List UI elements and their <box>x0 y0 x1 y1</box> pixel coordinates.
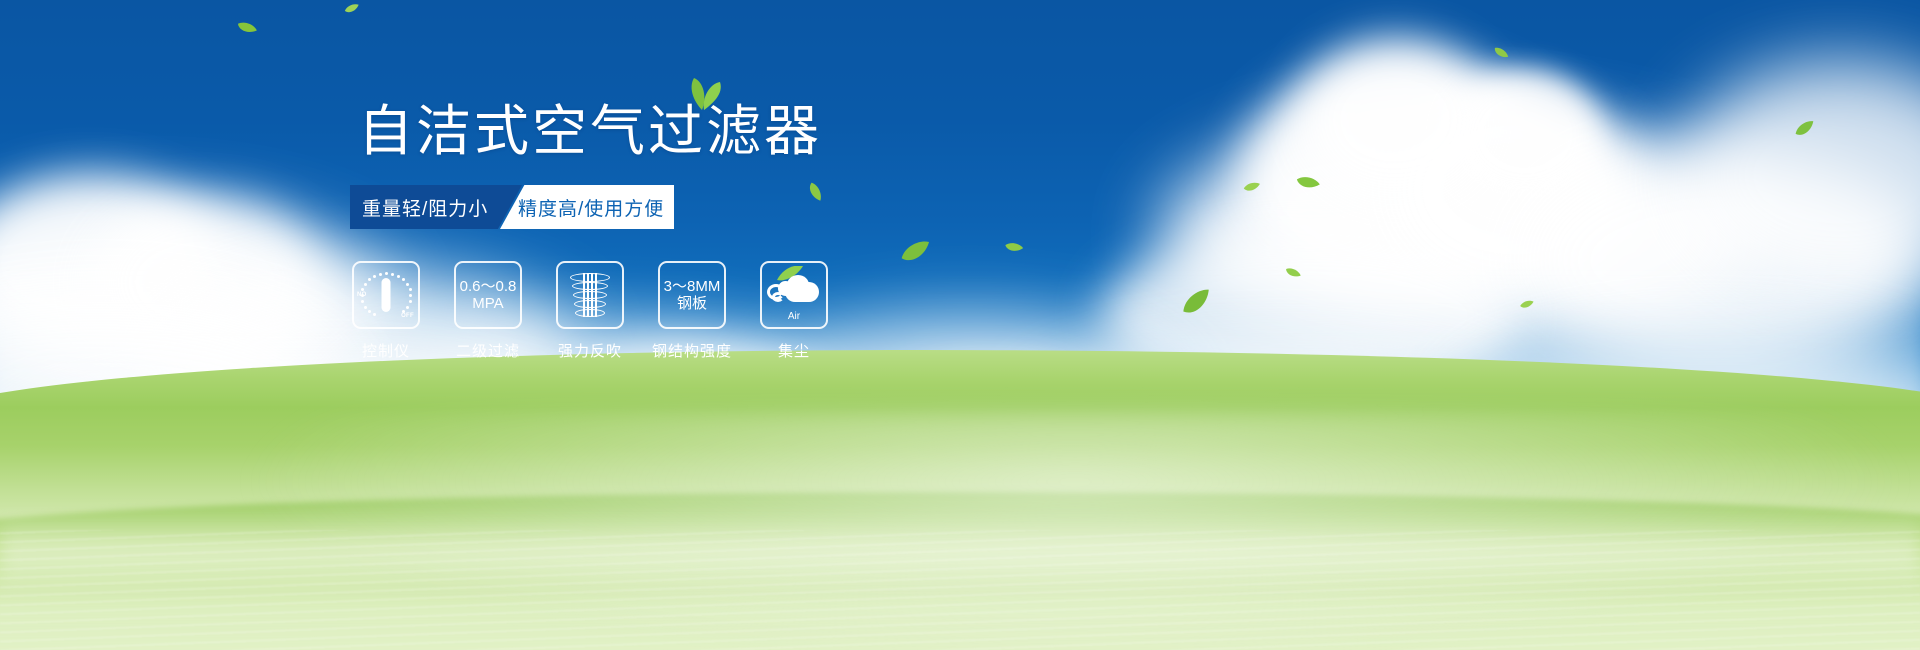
feature-icon-box: 0.6〜0.8 MPA <box>454 261 522 329</box>
feature-label: 集尘 <box>778 340 810 361</box>
page-title: 自洁式空气过滤器 <box>358 104 822 159</box>
steel-thickness-text: 3〜8MM <box>664 278 721 295</box>
feature-icon-box <box>556 261 624 329</box>
grass-texture <box>0 530 1920 650</box>
feature-label: 强力反吹 <box>558 340 622 361</box>
reverse-blow-icon <box>567 271 613 319</box>
gauge-label-off: OFF <box>401 313 414 319</box>
pressure-unit-text: MPA <box>472 295 503 312</box>
gauge-label-no: NO <box>357 292 367 298</box>
feature-item[interactable]: 0.6〜0.8 MPA 二级过滤 <box>452 261 524 361</box>
feature-icon-box: 3〜8MM 钢板 <box>658 261 726 329</box>
feature-item[interactable]: 3〜8MM 钢板 钢结构强度 <box>656 261 728 361</box>
steel-plate-text: 钢板 <box>677 295 707 312</box>
page-title-wrapper: 自洁式空气过滤器 <box>350 104 822 159</box>
pressure-value-text: 0.6〜0.8 <box>460 278 517 295</box>
feature-label: 二级过滤 <box>456 340 520 361</box>
feature-list: NO OFF 控制仪 0.6〜0.8 MPA 二级过滤 <box>350 261 1030 361</box>
tagline-left-pill: 重量轻/阻力小 <box>350 185 522 229</box>
air-cloud-icon: Air <box>767 270 821 320</box>
hero-content: 自洁式空气过滤器 重量轻/阻力小 精度高/使用方便 <box>350 104 1030 361</box>
title-leaf-icon <box>674 72 734 117</box>
feature-item[interactable]: NO OFF 控制仪 <box>350 261 422 361</box>
hero-banner: 自洁式空气过滤器 重量轻/阻力小 精度高/使用方便 <box>0 0 1920 650</box>
tagline-right-pill: 精度高/使用方便 <box>500 185 674 229</box>
feature-label: 控制仪 <box>362 340 410 361</box>
gauge-needle <box>382 278 391 312</box>
feature-icon-box: NO OFF <box>352 261 420 329</box>
feature-label: 钢结构强度 <box>652 340 732 361</box>
feature-item[interactable]: Air 集尘 <box>758 261 830 361</box>
feature-item[interactable]: 强力反吹 <box>554 261 626 361</box>
air-text: Air <box>767 311 821 322</box>
feature-icon-box: Air <box>760 261 828 329</box>
tagline-bar: 重量轻/阻力小 精度高/使用方便 <box>350 185 674 229</box>
gauge-icon: NO OFF <box>358 270 414 320</box>
